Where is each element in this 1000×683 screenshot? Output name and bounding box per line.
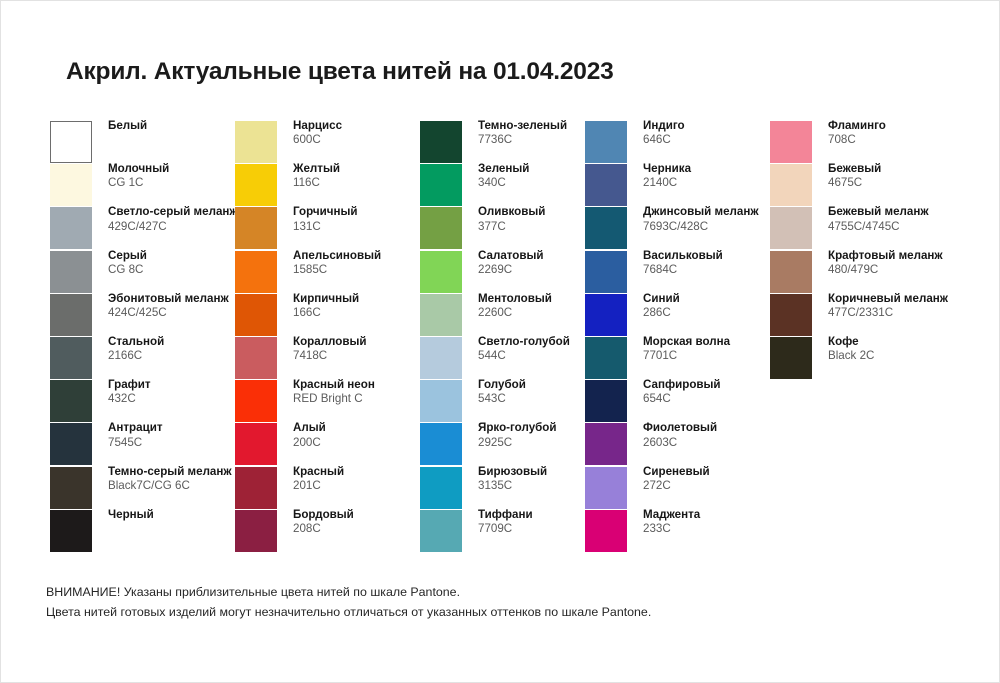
color-chip[interactable] bbox=[420, 380, 462, 422]
color-name: Коричневый меланж bbox=[828, 292, 988, 306]
note-line: Цвета нитей готовых изделий могут незнач… bbox=[46, 603, 946, 623]
swatch-row[interactable]: Тиффани7709С bbox=[420, 510, 582, 553]
swatch-row[interactable]: Маджента233С bbox=[585, 510, 765, 553]
pantone-code: 708С bbox=[828, 133, 988, 147]
swatch-labels: Сиреневый272С bbox=[643, 465, 803, 493]
swatch-row[interactable]: Коралловый7418С bbox=[235, 337, 415, 380]
swatch-row[interactable]: Черника2140С bbox=[585, 164, 765, 207]
color-chip[interactable] bbox=[585, 467, 627, 509]
swatch-row[interactable]: Горчичный131С bbox=[235, 207, 415, 250]
color-chip[interactable] bbox=[585, 423, 627, 465]
swatch-labels: Бежевый4675С bbox=[828, 162, 988, 190]
swatch-row[interactable]: Фиолетовый2603С bbox=[585, 423, 765, 466]
color-chip[interactable] bbox=[50, 121, 92, 163]
color-chip[interactable] bbox=[420, 467, 462, 509]
swatch-row[interactable]: Индиго646С bbox=[585, 121, 765, 164]
swatch-row[interactable]: Ярко-голубой2925С bbox=[420, 423, 582, 466]
color-chip[interactable] bbox=[585, 121, 627, 163]
swatch-row[interactable]: Белый bbox=[50, 121, 230, 164]
color-chip[interactable] bbox=[420, 251, 462, 293]
swatch-row[interactable]: Бежевый меланж4755С/4745С bbox=[770, 207, 985, 250]
pantone-code: Black 2C bbox=[828, 349, 988, 363]
pantone-code: 272С bbox=[643, 479, 803, 493]
color-chip[interactable] bbox=[235, 380, 277, 422]
page-title: Акрил. Актуальные цвета нитей на 01.04.2… bbox=[66, 58, 614, 86]
swatch-row[interactable]: Алый200С bbox=[235, 423, 415, 466]
swatch-labels: Бежевый меланж4755С/4745С bbox=[828, 205, 988, 233]
swatch-row[interactable]: Красный201С bbox=[235, 467, 415, 510]
swatch-row[interactable]: Темно-серый меланжBlack7C/CG 6C bbox=[50, 467, 230, 510]
color-chip[interactable] bbox=[770, 207, 812, 249]
swatch-row[interactable]: Бордовый208С bbox=[235, 510, 415, 553]
color-chip[interactable] bbox=[770, 121, 812, 163]
pantone-code: 4675С bbox=[828, 176, 988, 190]
swatch-row[interactable]: СерыйCG 8C bbox=[50, 251, 230, 294]
color-name: Крафтовый меланж bbox=[828, 249, 988, 263]
color-chip[interactable] bbox=[770, 251, 812, 293]
swatch-row[interactable]: Нарцисс600С bbox=[235, 121, 415, 164]
color-chip[interactable] bbox=[420, 164, 462, 206]
pantone-code: 2603С bbox=[643, 436, 803, 450]
swatch-row[interactable]: Морская волна7701С bbox=[585, 337, 765, 380]
swatch-row[interactable]: Черный bbox=[50, 510, 230, 553]
color-chip[interactable] bbox=[585, 337, 627, 379]
swatch-row[interactable]: Сиреневый272С bbox=[585, 467, 765, 510]
swatch-row[interactable]: Джинсовый меланж7693С/428С bbox=[585, 207, 765, 250]
color-chip[interactable] bbox=[235, 164, 277, 206]
color-chip[interactable] bbox=[235, 251, 277, 293]
color-chip[interactable] bbox=[770, 164, 812, 206]
color-name: Бежевый bbox=[828, 162, 988, 176]
swatch-row[interactable]: Темно-зеленый7736С bbox=[420, 121, 582, 164]
swatch-row[interactable]: Бирюзовый3135С bbox=[420, 467, 582, 510]
pantone-code: 477С/2331С bbox=[828, 306, 988, 320]
swatch-row[interactable]: Голубой543С bbox=[420, 380, 582, 423]
swatch-row[interactable]: Фламинго708С bbox=[770, 121, 985, 164]
swatch-row[interactable]: Эбонитовый меланж424С/425С bbox=[50, 294, 230, 337]
color-name: Фламинго bbox=[828, 119, 988, 133]
swatch-row[interactable]: Бежевый4675С bbox=[770, 164, 985, 207]
swatch-labels: Маджента233С bbox=[643, 508, 803, 536]
swatch-row[interactable]: Светло-серый меланж429С/427С bbox=[50, 207, 230, 250]
color-chip[interactable] bbox=[420, 121, 462, 163]
swatch-row[interactable]: Графит432С bbox=[50, 380, 230, 423]
color-chip[interactable] bbox=[50, 337, 92, 379]
swatch-row[interactable]: Сапфировый654С bbox=[585, 380, 765, 423]
swatch-row[interactable]: Оливковый377С bbox=[420, 207, 582, 250]
color-chip[interactable] bbox=[50, 467, 92, 509]
color-name: Маджента bbox=[643, 508, 803, 522]
swatch-labels: Коричневый меланж477С/2331С bbox=[828, 292, 988, 320]
color-chip[interactable] bbox=[585, 380, 627, 422]
swatch-labels: Фламинго708С bbox=[828, 119, 988, 147]
swatch-column-5: Фламинго708СБежевый4675СБежевый меланж47… bbox=[770, 121, 985, 380]
swatch-column-1: БелыйМолочныйCG 1CСветло-серый меланж429… bbox=[50, 121, 230, 553]
color-chip[interactable] bbox=[50, 207, 92, 249]
swatch-row[interactable]: Желтый116С bbox=[235, 164, 415, 207]
color-chip[interactable] bbox=[420, 337, 462, 379]
swatch-grid: БелыйМолочныйCG 1CСветло-серый меланж429… bbox=[50, 121, 990, 561]
color-chip[interactable] bbox=[235, 121, 277, 163]
color-name: Сапфировый bbox=[643, 378, 803, 392]
swatch-row[interactable]: Светло-голубой544С bbox=[420, 337, 582, 380]
swatch-row[interactable]: Зеленый340С bbox=[420, 164, 582, 207]
color-chip[interactable] bbox=[770, 294, 812, 336]
color-chart-page: Акрил. Актуальные цвета нитей на 01.04.2… bbox=[0, 0, 1000, 683]
color-name: Сиреневый bbox=[643, 465, 803, 479]
color-name: Фиолетовый bbox=[643, 421, 803, 435]
pantone-code: 654С bbox=[643, 392, 803, 406]
swatch-labels: Фиолетовый2603С bbox=[643, 421, 803, 449]
color-chip[interactable] bbox=[585, 164, 627, 206]
color-chip[interactable] bbox=[420, 207, 462, 249]
color-name: Бежевый меланж bbox=[828, 205, 988, 219]
swatch-labels: Сапфировый654С bbox=[643, 378, 803, 406]
swatch-row[interactable]: Ментоловый2260С bbox=[420, 294, 582, 337]
swatch-row[interactable]: Апельсиновый1585С bbox=[235, 251, 415, 294]
color-chip[interactable] bbox=[235, 337, 277, 379]
color-chip[interactable] bbox=[420, 294, 462, 336]
color-chip[interactable] bbox=[235, 207, 277, 249]
color-chip[interactable] bbox=[235, 423, 277, 465]
color-chip[interactable] bbox=[50, 251, 92, 293]
color-name: Кофе bbox=[828, 335, 988, 349]
color-chip[interactable] bbox=[235, 510, 277, 552]
color-chip[interactable] bbox=[585, 207, 627, 249]
swatch-labels: Крафтовый меланж480/479С bbox=[828, 249, 988, 277]
swatch-row[interactable]: Салатовый2269С bbox=[420, 251, 582, 294]
swatch-row[interactable]: Красный неонRED Bright C bbox=[235, 380, 415, 423]
swatch-row[interactable]: Крафтовый меланж480/479С bbox=[770, 251, 985, 294]
color-chip[interactable] bbox=[50, 423, 92, 465]
swatch-row[interactable]: Васильковый7684С bbox=[585, 251, 765, 294]
color-chip[interactable] bbox=[235, 294, 277, 336]
swatch-row[interactable]: КофеBlack 2C bbox=[770, 337, 985, 380]
color-chip[interactable] bbox=[585, 510, 627, 552]
color-chip[interactable] bbox=[585, 294, 627, 336]
color-chip[interactable] bbox=[770, 337, 812, 379]
color-chip[interactable] bbox=[420, 423, 462, 465]
color-chip[interactable] bbox=[50, 164, 92, 206]
swatch-column-4: Индиго646СЧерника2140СДжинсовый меланж76… bbox=[585, 121, 765, 553]
swatch-row[interactable]: Стальной2166С bbox=[50, 337, 230, 380]
pantone-code: 4755С/4745С bbox=[828, 220, 988, 234]
pantone-code: 480/479С bbox=[828, 263, 988, 277]
color-chip[interactable] bbox=[50, 510, 92, 552]
swatch-column-3: Темно-зеленый7736СЗеленый340СОливковый37… bbox=[420, 121, 582, 553]
color-chip[interactable] bbox=[50, 380, 92, 422]
pantone-code: 233С bbox=[643, 522, 803, 536]
note-line: ВНИМАНИЕ! Указаны приблизительные цвета … bbox=[46, 583, 946, 603]
swatch-row[interactable]: Синий286С bbox=[585, 294, 765, 337]
swatch-row[interactable]: Коричневый меланж477С/2331С bbox=[770, 294, 985, 337]
swatch-row[interactable]: МолочныйCG 1C bbox=[50, 164, 230, 207]
color-chip[interactable] bbox=[235, 467, 277, 509]
swatch-column-2: Нарцисс600СЖелтый116СГорчичный131САпельс… bbox=[235, 121, 415, 553]
swatch-row[interactable]: Кирпичный166С bbox=[235, 294, 415, 337]
swatch-row[interactable]: Антрацит7545С bbox=[50, 423, 230, 466]
color-chip[interactable] bbox=[420, 510, 462, 552]
disclaimer-notes: ВНИМАНИЕ! Указаны приблизительные цвета … bbox=[46, 583, 946, 622]
color-chip[interactable] bbox=[50, 294, 92, 336]
color-chip[interactable] bbox=[585, 251, 627, 293]
swatch-labels: КофеBlack 2C bbox=[828, 335, 988, 363]
